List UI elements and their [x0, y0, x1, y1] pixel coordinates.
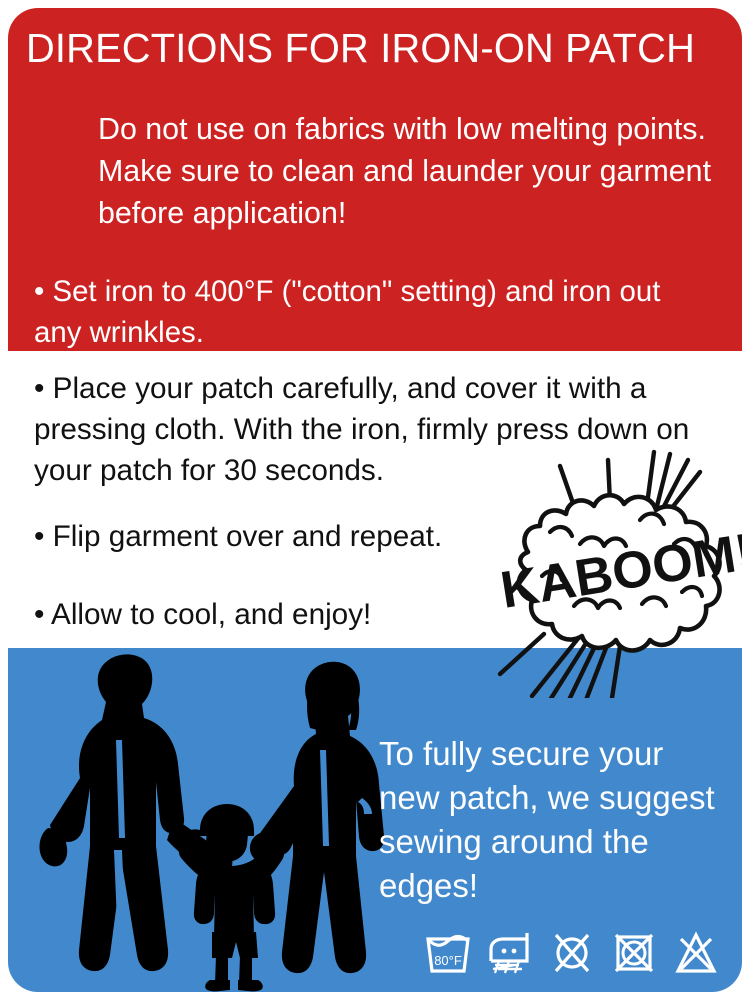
- family-silhouette-illustration: [18, 650, 418, 992]
- blue-suggestion-panel: To fully secure your new patch, we sugge…: [8, 648, 742, 992]
- instruction-bullet-place-patch: • Place your patch carefully, and cover …: [34, 368, 699, 491]
- instruction-bullet-iron-setting: • Set iron to 400°F ("cotton" setting) a…: [34, 271, 710, 353]
- red-warning-panel: DIRECTIONS FOR IRON-ON PATCH Do not use …: [8, 8, 742, 351]
- care-symbols-row: 80°F: [423, 920, 723, 982]
- white-instructions-panel: • Place your patch carefully, and cover …: [8, 351, 742, 648]
- do-not-dry-clean-symbol: [547, 925, 597, 977]
- do-not-tumble-dry-symbol: [609, 925, 659, 977]
- instruction-bullet-allow-cool: • Allow to cool, and enjoy!: [34, 594, 499, 635]
- do-not-bleach-symbol: [671, 925, 721, 977]
- instruction-card: DIRECTIONS FOR IRON-ON PATCH Do not use …: [8, 8, 742, 992]
- instruction-bullet-flip-garment: • Flip garment over and repeat.: [34, 516, 499, 557]
- page-title: DIRECTIONS FOR IRON-ON PATCH: [26, 28, 705, 69]
- intro-paragraph: Do not use on fabrics with low melting p…: [98, 108, 711, 234]
- sewing-suggestion-text: To fully secure your new patch, we sugge…: [379, 732, 724, 908]
- iron-symbol: [485, 925, 535, 977]
- wash-temperature-label: 80°F: [434, 953, 462, 968]
- wash-tub-symbol: 80°F: [423, 925, 473, 977]
